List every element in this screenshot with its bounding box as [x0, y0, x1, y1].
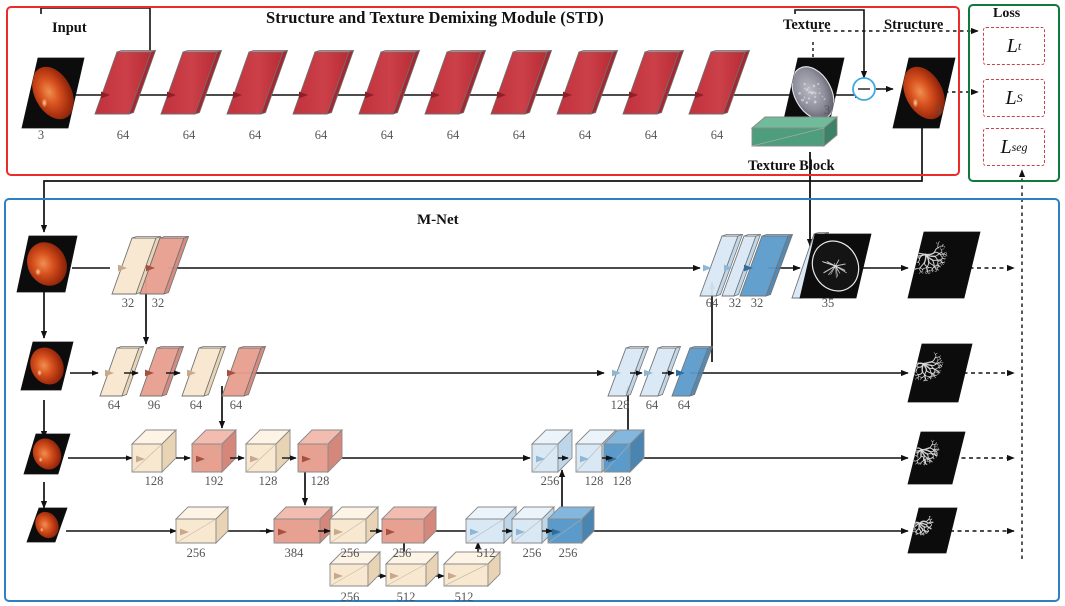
loss-term-lt-sub: t [1018, 39, 1021, 54]
std-channel-10: 64 [711, 128, 724, 143]
mnet-r3-enc-label-3: 128 [259, 474, 278, 489]
mnet-r1-out-label: 35 [822, 296, 835, 311]
loss-title: Loss [993, 6, 1020, 22]
mnet-r2-dec-label-2: 64 [646, 398, 659, 413]
loss-term-lt: Lt [983, 27, 1045, 65]
mnet-r2-enc-label-1: 64 [108, 398, 121, 413]
mnet-r3-dec-label-2: 128 [585, 474, 604, 489]
input-label: Input [52, 20, 87, 37]
std-channel-8: 64 [579, 128, 592, 143]
mnet-r3-enc-label-2: 192 [205, 474, 224, 489]
texture-label: Texture [783, 17, 831, 34]
std-channel-1: 64 [117, 128, 130, 143]
structure-label: Structure [884, 17, 943, 34]
mnet-panel [4, 198, 1060, 602]
texture-block-label: Texture Block [748, 158, 835, 175]
mnet-r1-enc-label-2: 32 [152, 296, 165, 311]
std-title: Structure and Texture Demixing Module (S… [266, 8, 604, 28]
mnet-bottleneck-label-2: 512 [397, 590, 416, 605]
mnet-r4-dec-label-3: 256 [559, 546, 578, 561]
loss-term-ls: LS [983, 79, 1045, 117]
mnet-r4-enc-label-1: 256 [187, 546, 206, 561]
mnet-r1-dec-label-1: 64 [706, 296, 719, 311]
std-texture-channels: 3 [824, 103, 830, 118]
std-channel-2: 64 [183, 128, 196, 143]
mnet-r1-dec-label-3: 32 [751, 296, 764, 311]
mnet-title: M-Net [417, 212, 459, 229]
loss-term-lseg-sub: seg [1012, 140, 1028, 155]
mnet-r3-enc-label-1: 128 [145, 474, 164, 489]
std-channel-7: 64 [513, 128, 526, 143]
std-channel-6: 64 [447, 128, 460, 143]
std-input-channels: 3 [38, 128, 44, 143]
std-channel-9: 64 [645, 128, 658, 143]
mnet-r2-enc-label-2: 96 [148, 398, 161, 413]
mnet-r2-dec-label-3: 64 [678, 398, 691, 413]
mnet-r4-enc-label-4: 256 [393, 546, 412, 561]
loss-term-lseg: Lseg [983, 128, 1045, 166]
mnet-bottleneck-label-3: 512 [455, 590, 474, 605]
loss-term-ls-sub: S [1017, 91, 1023, 106]
mnet-r3-dec-label-3: 128 [613, 474, 632, 489]
std-structure-channels: 3 [935, 103, 941, 118]
mnet-r4-dec-label-1: 512 [477, 546, 496, 561]
mnet-r2-dec-label-1: 128 [611, 398, 630, 413]
mnet-r2-enc-label-3: 64 [190, 398, 203, 413]
mnet-r4-dec-label-2: 256 [523, 546, 542, 561]
mnet-r4-enc-label-2: 384 [285, 546, 304, 561]
mnet-r3-dec-label-1: 256 [541, 474, 560, 489]
mnet-r3-enc-label-4: 128 [311, 474, 330, 489]
std-channel-3: 64 [249, 128, 262, 143]
mnet-bottleneck-label-1: 256 [341, 590, 360, 605]
mnet-r1-enc-label-1: 32 [122, 296, 135, 311]
std-channel-5: 64 [381, 128, 394, 143]
mnet-r4-enc-label-3: 256 [341, 546, 360, 561]
mnet-r1-dec-label-2: 32 [729, 296, 742, 311]
mnet-r2-enc-label-4: 64 [230, 398, 243, 413]
std-channel-4: 64 [315, 128, 328, 143]
